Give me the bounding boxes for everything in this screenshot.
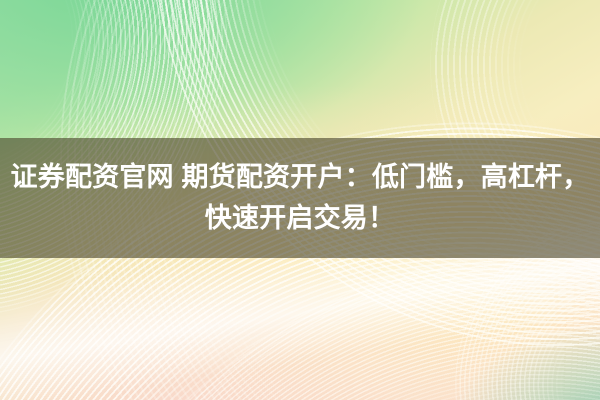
banner-caption: 证券配资官网 期货配资开户：低门槛，高杠杆，快速开启交易！: [6, 157, 594, 239]
banner-image: 证券配资官网 期货配资开户：低门槛，高杠杆，快速开启交易！: [0, 0, 600, 400]
caption-band: 证券配资官网 期货配资开户：低门槛，高杠杆，快速开启交易！: [0, 138, 600, 258]
